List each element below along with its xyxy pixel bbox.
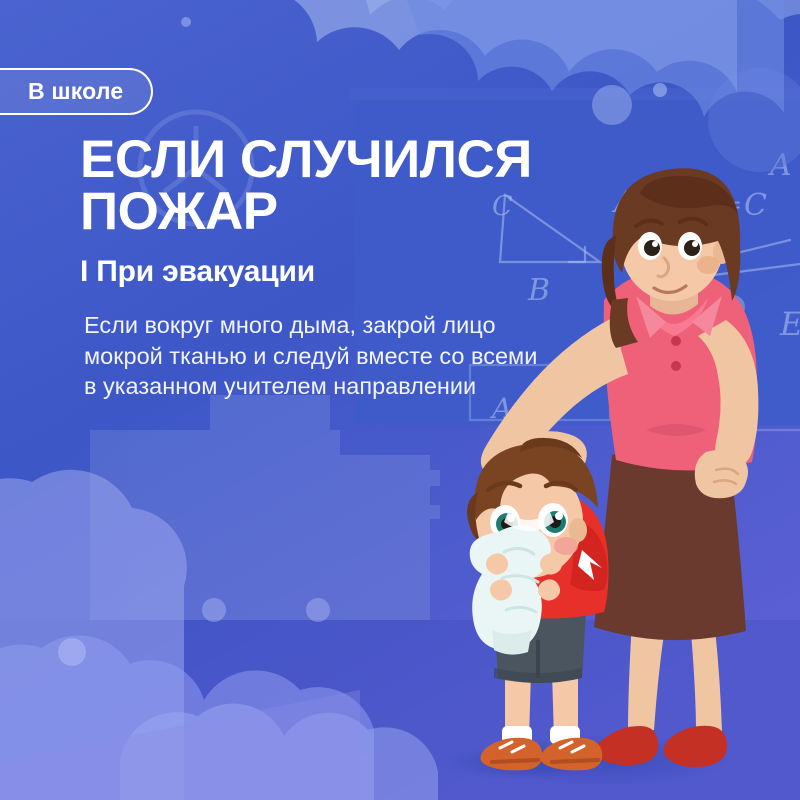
svg-text:E: E [779, 305, 800, 343]
poster: C A B A 2 + B 2 = C A π E A [0, 0, 800, 800]
page-title: ЕСЛИ СЛУЧИЛСЯ ПОЖАР [80, 134, 600, 238]
section-subheading: I При эвакуации [80, 255, 600, 289]
badge-label: В школе [28, 78, 123, 105]
svg-text:C: C [744, 188, 767, 223]
badge-v-shkole: В школе [0, 68, 153, 115]
body-paragraph: Если вокруг много дыма, закрой лицо мокр… [84, 310, 554, 402]
